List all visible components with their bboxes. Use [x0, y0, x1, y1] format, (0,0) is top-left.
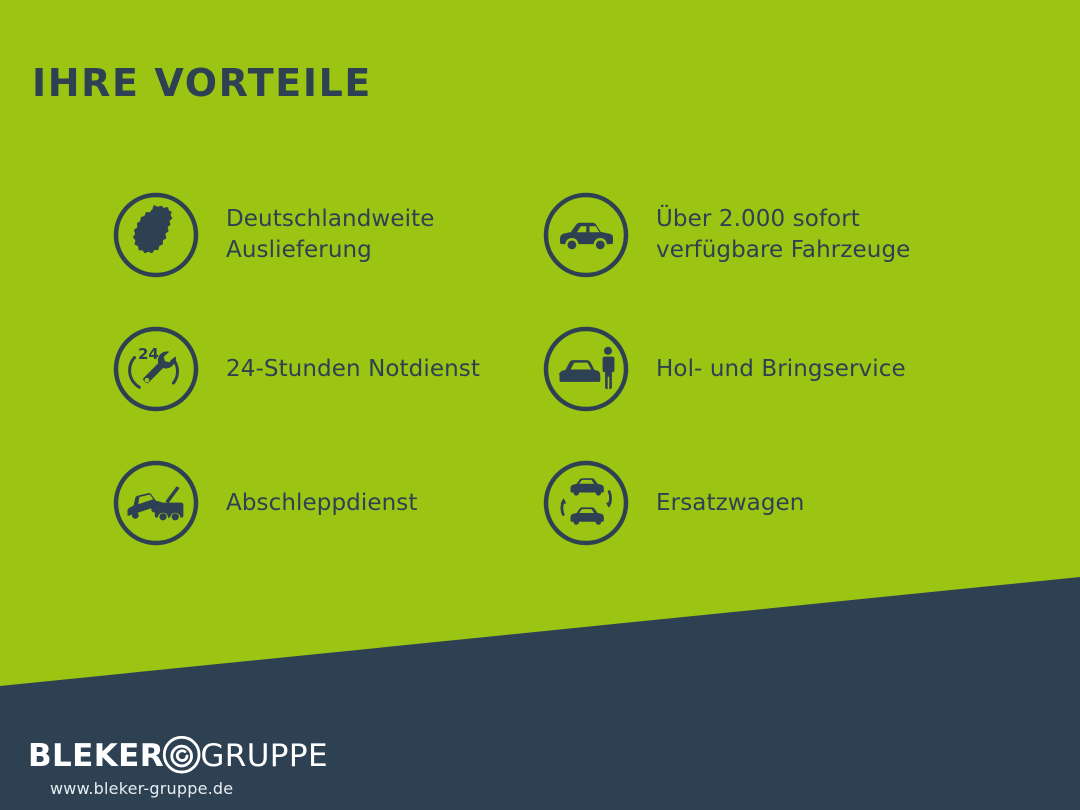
benefit-item-deutschlandweite-auslieferung: Deutschlandweite Auslieferung [112, 168, 532, 302]
benefit-label: Abschleppdienst [226, 488, 418, 519]
icon-hours-label: 24 [138, 345, 159, 363]
car-and-person-icon [542, 325, 630, 413]
benefit-label: Deutschlandweite Auslieferung [226, 204, 532, 266]
benefits-grid: Deutschlandweite Auslieferung Über 2.000… [112, 168, 1012, 570]
benefit-item-ersatzwagen: Ersatzwagen [542, 436, 1002, 570]
benefit-item-hol-und-bringservice: Hol- und Bringservice [542, 302, 1002, 436]
benefit-label: 24-Stunden Notdienst [226, 354, 480, 385]
benefit-item-verfuegbare-fahrzeuge: Über 2.000 sofort verfügbare Fahrzeuge [542, 168, 1002, 302]
logo-url[interactable]: www.bleker-gruppe.de [50, 779, 328, 798]
germany-map-icon [112, 191, 200, 279]
logo-row: BLEKER GRUPPE [28, 735, 328, 777]
page-title: IHRE VORTEILE [32, 64, 372, 102]
car-side-icon [542, 191, 630, 279]
tow-truck-icon [112, 459, 200, 547]
benefit-item-abschleppdienst: Abschleppdienst [112, 436, 532, 570]
slide-canvas: IHRE VORTEILE Deutschlandweite Ausliefer… [0, 0, 1080, 810]
footer-logo[interactable]: BLEKER GRUPPE www.bleker-gruppe.de [28, 735, 328, 805]
benefit-label: Ersatzwagen [656, 488, 805, 519]
benefit-label: Hol- und Bringservice [656, 354, 906, 385]
logo-wordmark-primary: BLEKER [28, 741, 164, 772]
car-swap-icon [542, 459, 630, 547]
benefit-label: Über 2.000 sofort verfügbare Fahrzeuge [656, 204, 966, 266]
benefit-item-24-stunden-notdienst: 24 24-Stunden Notdienst [112, 302, 532, 436]
spiral-circle-logo-icon [161, 734, 202, 778]
24-hour-wrench-icon: 24 [112, 325, 200, 413]
logo-wordmark-secondary: GRUPPE [200, 741, 328, 772]
